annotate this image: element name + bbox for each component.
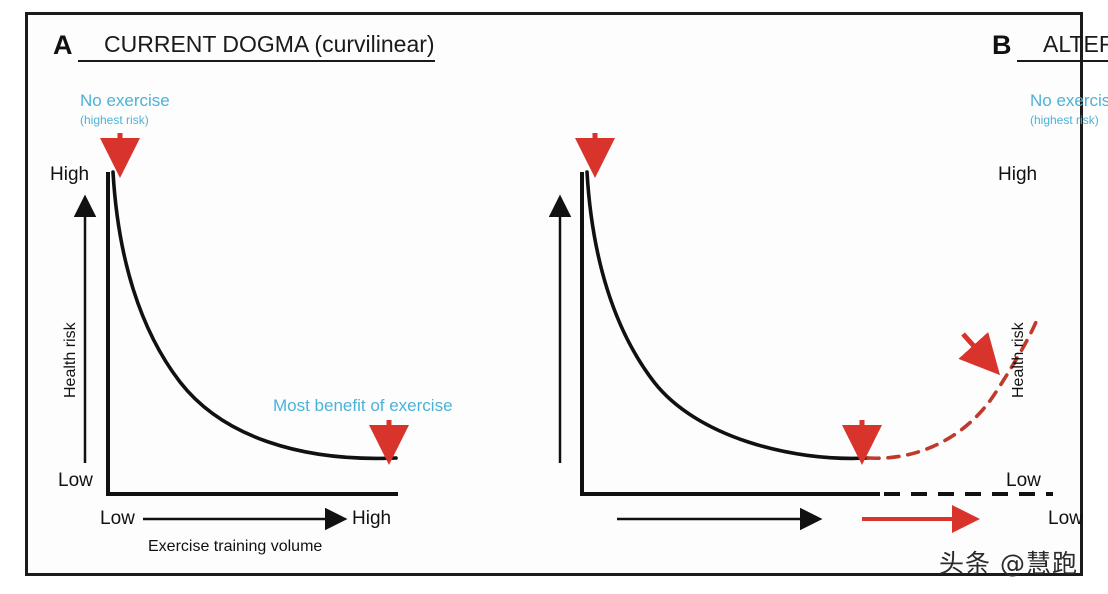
panel-a-letter: A [53, 30, 73, 61]
figure-canvas: A CURRENT DOGMA (curvilinear) No exercis… [0, 0, 1108, 594]
panel-a-y-axis-name: Health risk [62, 322, 80, 398]
panel-b-x-low-label: Low [1048, 508, 1083, 530]
panel-a-x-axis-name: Exercise training volume [148, 538, 322, 556]
panel-b-no-exercise-label: No exercise [1030, 91, 1108, 112]
panel-b-y-axis-name: Health risk [1010, 322, 1028, 398]
panel-b-y-low-label: Low [1006, 470, 1041, 492]
panel-b-title: ALTERNATIVE HYPOTHESIS (reversed J-shape… [1017, 31, 1108, 62]
panel-a-most-benefit-label: Most benefit of exercise [273, 396, 453, 417]
panel-b-y-high-label: High [998, 164, 1037, 186]
watermark: 头条 @慧跑 [939, 544, 1078, 580]
panel-a-no-exercise-label: No exercise [80, 91, 170, 112]
panel-b-letter: B [992, 30, 1012, 61]
panel-a-x-low-label: Low [100, 508, 135, 530]
panel-b: B ALTERNATIVE HYPOTHESIS (reversed J-sha… [474, 0, 1108, 594]
panel-b-no-exercise-sublabel: (highest risk) [1030, 113, 1099, 128]
panel-a-y-low-label: Low [58, 470, 93, 492]
panel-a-x-high-label: High [352, 508, 391, 530]
panel-a-title: CURRENT DOGMA (curvilinear) [78, 31, 435, 62]
panel-a: A CURRENT DOGMA (curvilinear) No exercis… [0, 0, 500, 594]
panel-a-y-high-label: High [50, 164, 89, 186]
panel-a-no-exercise-sublabel: (highest risk) [80, 113, 149, 128]
